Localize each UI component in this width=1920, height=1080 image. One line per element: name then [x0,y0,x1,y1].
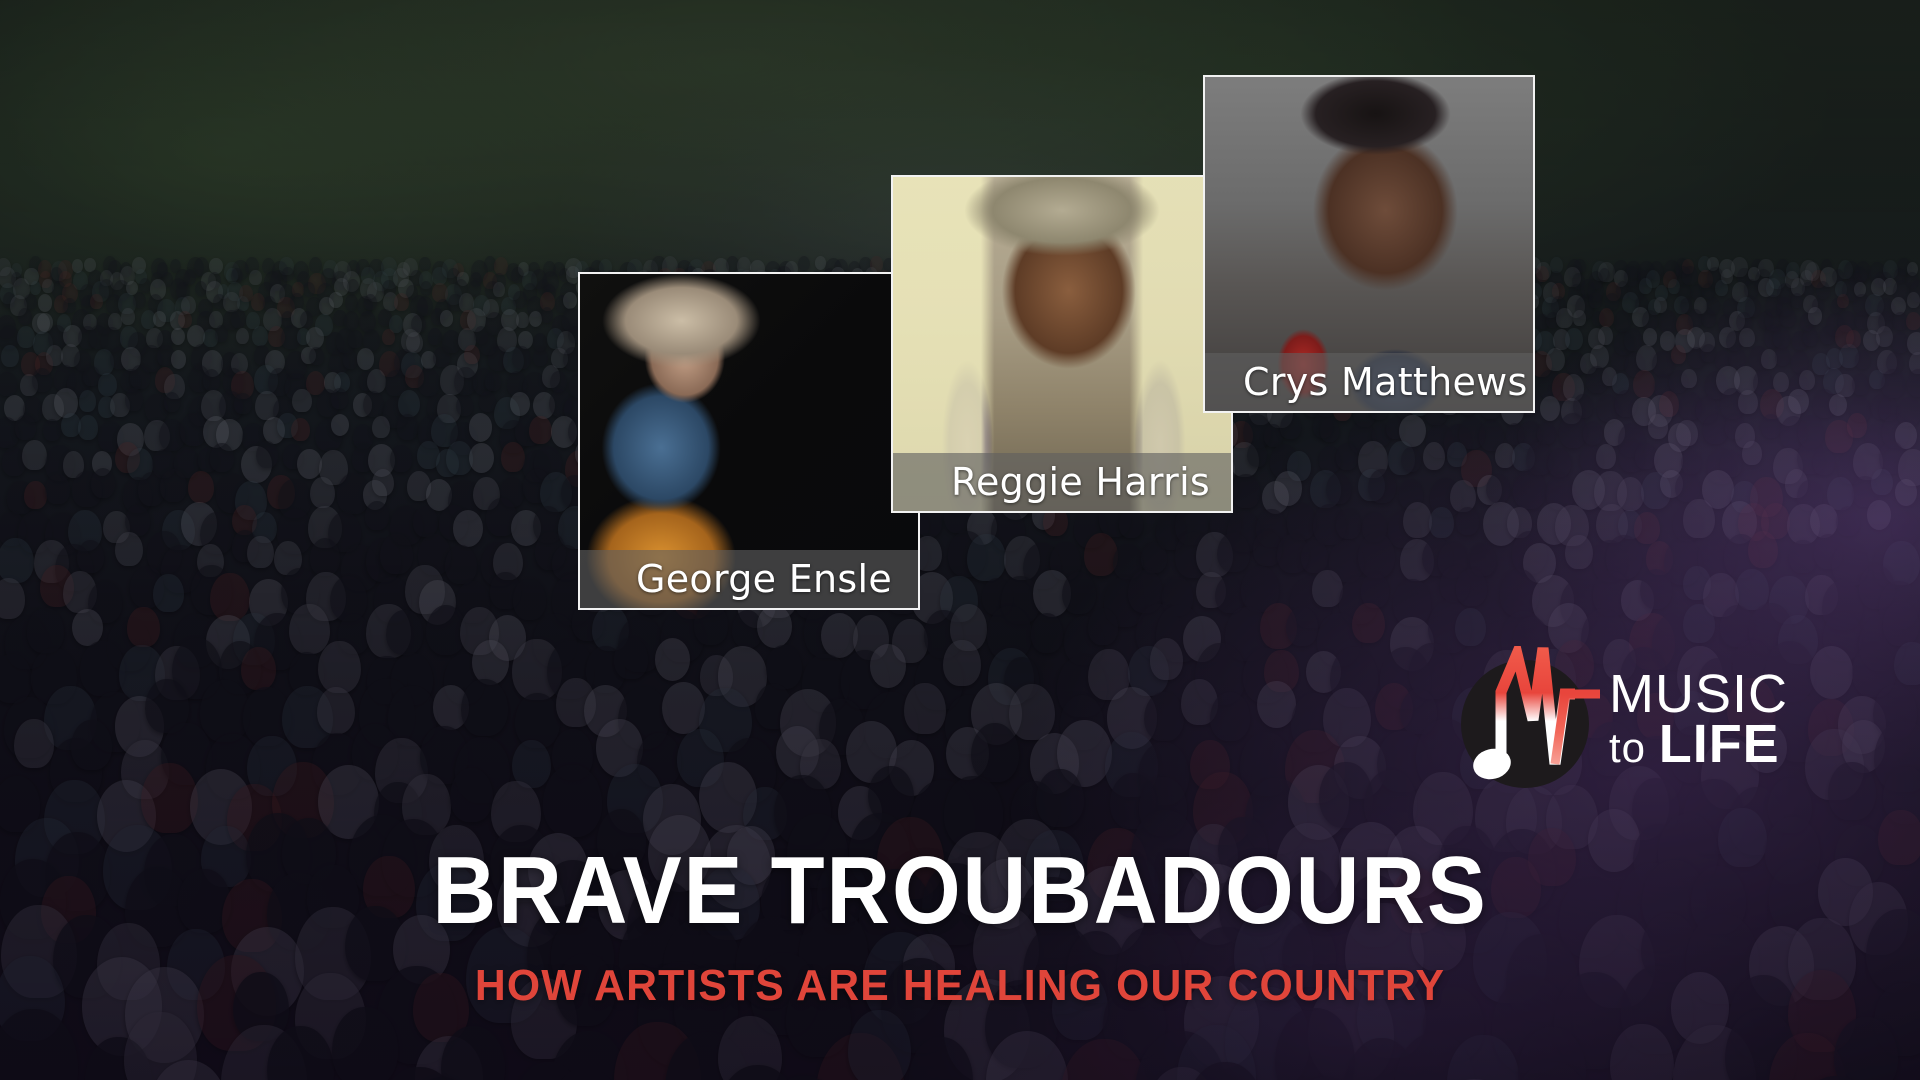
promotional-poster: George Ensle Reggie Harris Crys Matthews [0,0,1920,1080]
artist-name-crys-matthews: Crys Matthews [1205,353,1533,411]
music-note-waveform-icon [1455,646,1603,794]
logo-line-to-life: to LIFE [1609,720,1788,770]
logo-line-music: MUSIC [1609,670,1788,720]
artist-card-crys-matthews[interactable]: Crys Matthews [1203,75,1535,413]
artist-name-reggie-harris: Reggie Harris [893,453,1231,511]
music-to-life-logo[interactable]: MUSIC to LIFE [1455,645,1875,795]
logo-word-to: to [1609,724,1659,771]
logo-word-life: LIFE [1659,714,1780,774]
poster-title: BRAVE TROUBADOURS [77,843,1843,939]
artist-name-george-ensle: George Ensle [580,550,918,608]
logo-wordmark: MUSIC to LIFE [1609,670,1788,769]
artist-card-george-ensle[interactable]: George Ensle [578,272,920,610]
artist-card-reggie-harris[interactable]: Reggie Harris [891,175,1233,513]
poster-subtitle: HOW ARTISTS ARE HEALING OUR COUNTRY [29,964,1891,1008]
